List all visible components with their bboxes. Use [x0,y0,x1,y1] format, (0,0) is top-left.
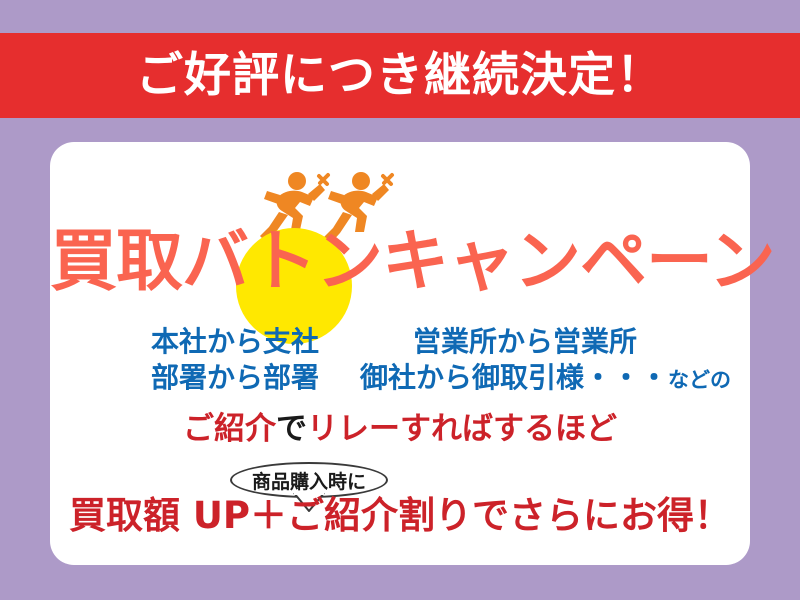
route-list: 本社から支社 営業所から営業所 部署から部署 御社から御取引様・・・などの [50,324,750,396]
content-card: 買取バトンキャンペーン 本社から支社 営業所から営業所 部署から部署 御社から御… [50,142,750,565]
route-left: 部署から部署 [110,360,360,396]
route-right-main: 営業所から営業所 [413,325,637,358]
headline-ribbon: ご好評につき継続決定！ [0,33,800,118]
route-right: 御社から御取引様・・・などの [360,360,690,396]
route-row: 本社から支社 営業所から営業所 [50,324,750,360]
relay-part-one: ご紹介 [183,411,276,447]
logo-lockup: 買取バトンキャンペーン [50,170,750,305]
promo-poster: ご好評につき継続決定！ [0,0,800,600]
relay-part-two: リレーすればするほど [307,411,617,447]
relay-message: ご紹介でリレーすればするほど [50,414,750,445]
route-left: 本社から支社 [110,324,360,360]
ribbon-headline: ご好評につき継続決定！ [136,52,664,99]
campaign-title: 買取バトンキャンペーン [50,228,750,295]
offer-headline: 買取額 UP＋ご紹介割りでさらにお得！ [50,497,750,534]
route-right-main: 御社から御取引様・・・ [360,361,668,394]
speech-bubble-label: 商品購入時に [230,462,388,498]
route-right: 営業所から営業所 [360,324,690,360]
route-row: 部署から部署 御社から御取引様・・・などの [50,360,750,396]
relay-particle: で [276,411,307,447]
route-right-suffix: などの [668,368,731,392]
